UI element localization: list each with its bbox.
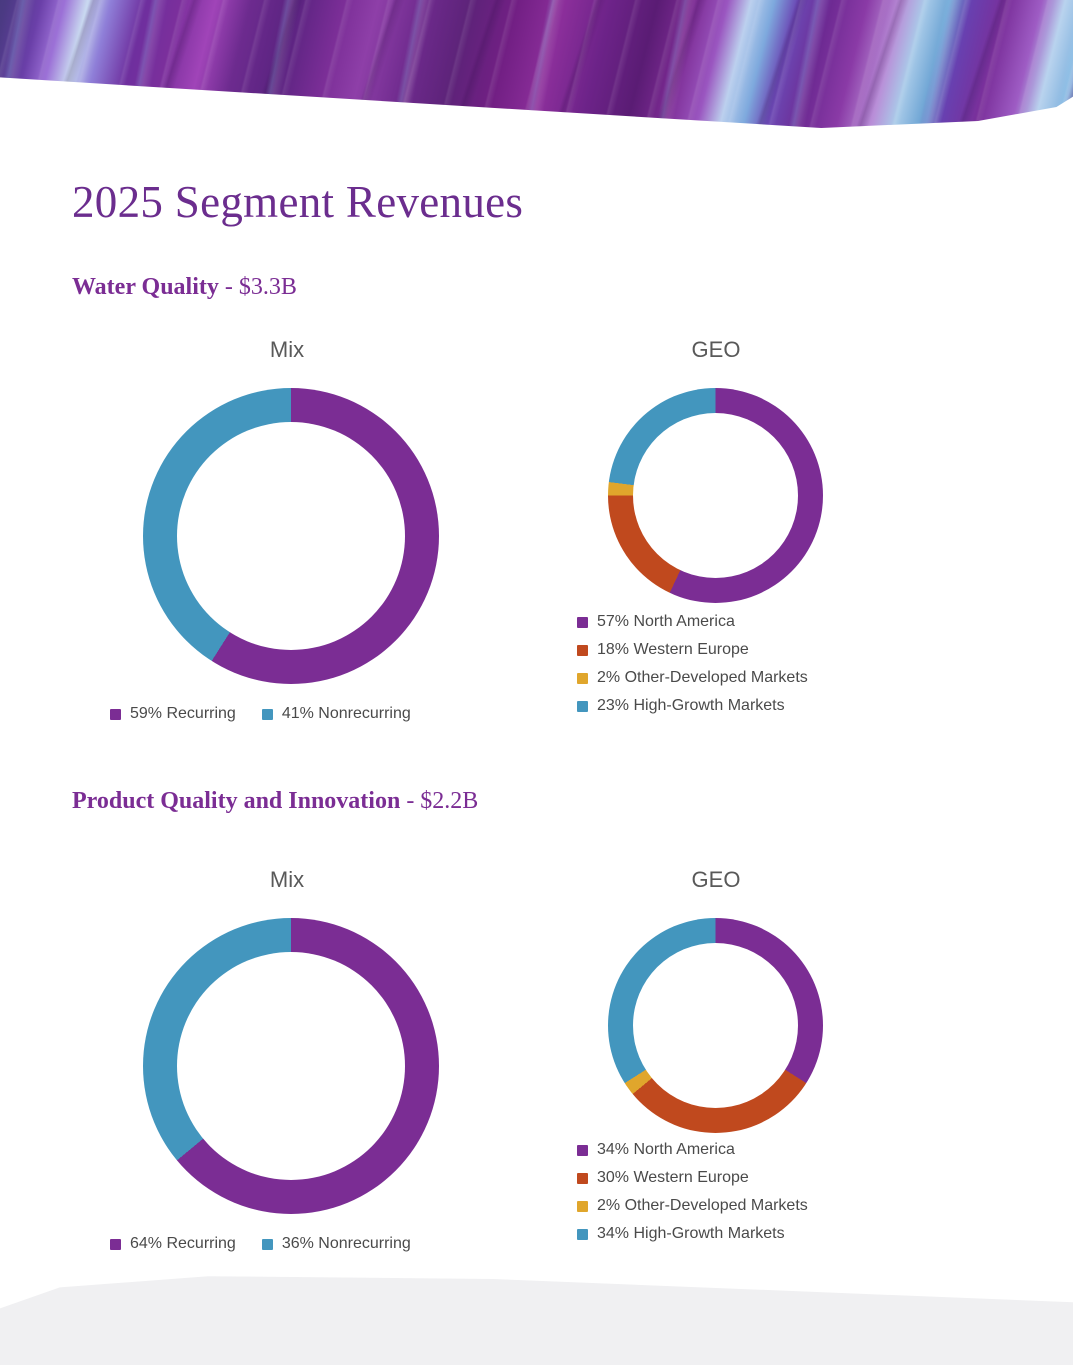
chart-title-pqi-geo: GEO	[616, 867, 816, 893]
legend-swatch-icon	[110, 709, 121, 720]
section-heading-water-quality: Water Quality - $3.3B	[72, 274, 297, 301]
legend-label: 34% High-Growth Markets	[597, 1225, 785, 1243]
legend-label: 18% Western Europe	[597, 641, 749, 659]
legend-swatch-icon	[577, 701, 588, 712]
legend-item: 2% Other-Developed Markets	[577, 669, 808, 687]
chart-title-wq-geo: GEO	[616, 337, 816, 363]
legend-item: 59% Recurring	[110, 705, 236, 723]
page-title: 2025 Segment Revenues	[72, 176, 523, 228]
legend-swatch-icon	[577, 1229, 588, 1240]
slide-page: 2025 Segment Revenues Water Quality - $3…	[0, 0, 1073, 1365]
legend-pqi-geo: 34% North America30% Western Europe2% Ot…	[577, 1141, 808, 1243]
legend-item: 2% Other-Developed Markets	[577, 1197, 808, 1215]
banner-artwork	[0, 0, 1073, 132]
donut-chart-pqi-mix	[143, 918, 439, 1214]
legend-item: 23% High-Growth Markets	[577, 697, 808, 715]
donut-hole	[633, 943, 798, 1108]
legend-label: 2% Other-Developed Markets	[597, 1197, 808, 1215]
legend-label: 41% Nonrecurring	[282, 705, 411, 723]
legend-label: 64% Recurring	[130, 1235, 236, 1253]
legend-label: 23% High-Growth Markets	[597, 697, 785, 715]
banner-light-streaks	[0, 0, 1073, 132]
legend-label: 36% Nonrecurring	[282, 1235, 411, 1253]
legend-label: 59% Recurring	[130, 705, 236, 723]
donut-chart-wq-mix	[143, 388, 439, 684]
donut-chart-pqi-geo	[608, 918, 823, 1133]
donut-chart-wq-geo	[608, 388, 823, 603]
legend-pqi-mix: 64% Recurring36% Nonrecurring	[110, 1235, 411, 1253]
legend-swatch-icon	[577, 1201, 588, 1212]
legend-label: 34% North America	[597, 1141, 735, 1159]
legend-wq-geo: 57% North America18% Western Europe2% Ot…	[577, 613, 808, 715]
legend-label: 2% Other-Developed Markets	[597, 669, 808, 687]
chart-title-pqi-mix: Mix	[187, 867, 387, 893]
legend-item: 57% North America	[577, 613, 808, 631]
section-heading-product-quality: Product Quality and Innovation - $2.2B	[72, 788, 478, 815]
chart-title-wq-mix: Mix	[187, 337, 387, 363]
legend-swatch-icon	[110, 1239, 121, 1250]
donut-hole	[177, 952, 405, 1180]
header-banner	[0, 0, 1073, 132]
donut-hole	[633, 413, 798, 578]
segment-value: - $2.2B	[400, 788, 478, 814]
legend-item: 36% Nonrecurring	[262, 1235, 411, 1253]
footer-decorative-shape	[0, 1265, 1073, 1365]
legend-label: 57% North America	[597, 613, 735, 631]
legend-item: 41% Nonrecurring	[262, 705, 411, 723]
legend-item: 18% Western Europe	[577, 641, 808, 659]
legend-item: 34% High-Growth Markets	[577, 1225, 808, 1243]
legend-swatch-icon	[262, 1239, 273, 1250]
legend-swatch-icon	[262, 709, 273, 720]
legend-swatch-icon	[577, 1145, 588, 1156]
legend-swatch-icon	[577, 1173, 588, 1184]
legend-swatch-icon	[577, 673, 588, 684]
legend-swatch-icon	[577, 645, 588, 656]
legend-item: 64% Recurring	[110, 1235, 236, 1253]
legend-item: 34% North America	[577, 1141, 808, 1159]
donut-hole	[177, 422, 405, 650]
segment-value: - $3.3B	[219, 274, 297, 300]
legend-label: 30% Western Europe	[597, 1169, 749, 1187]
legend-wq-mix: 59% Recurring41% Nonrecurring	[110, 705, 411, 723]
segment-name: Water Quality	[72, 274, 219, 300]
legend-swatch-icon	[577, 617, 588, 628]
legend-item: 30% Western Europe	[577, 1169, 808, 1187]
segment-name: Product Quality and Innovation	[72, 788, 400, 814]
